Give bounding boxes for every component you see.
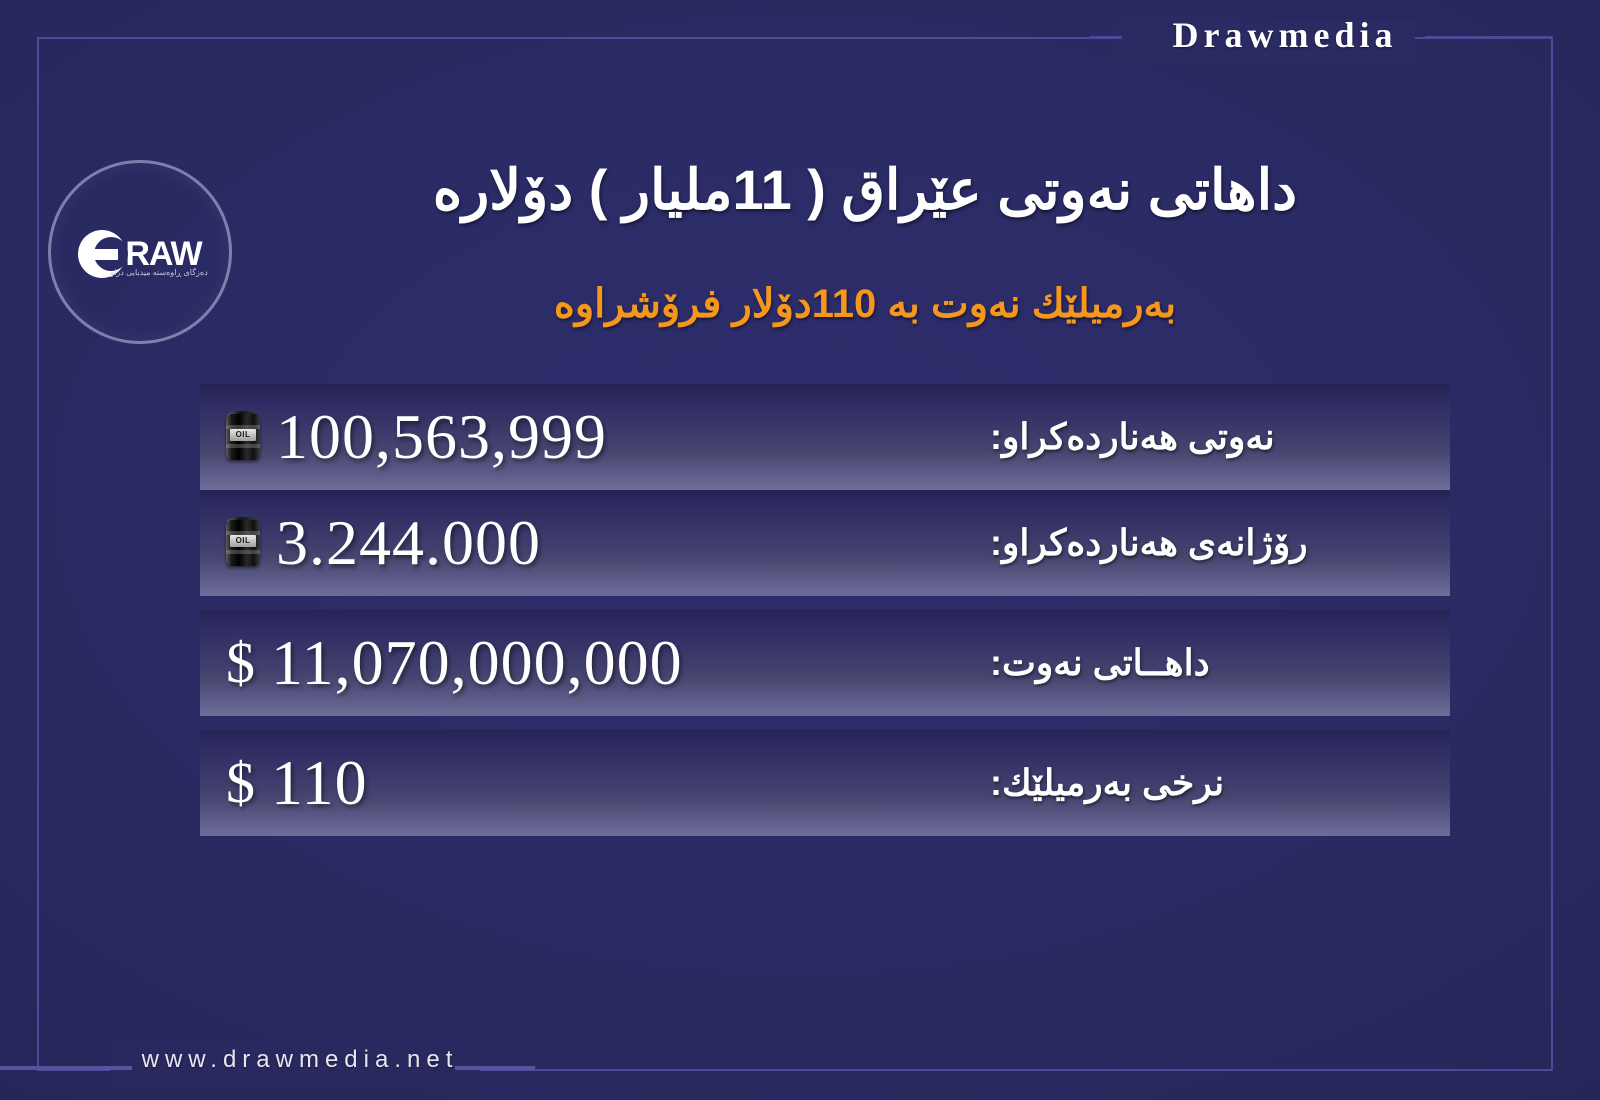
- rule-top-right: [1425, 36, 1553, 39]
- row-label-oil-revenue: داهــاتی نەوت:: [980, 642, 1450, 684]
- row-value-oil-revenue: 11,070,000,000: [271, 631, 683, 695]
- table-row: نرخی بەرمیلێك: $ 110: [200, 730, 1450, 836]
- barrel-label: OIL: [230, 535, 256, 547]
- row-label-barrel-price: نرخی بەرمیلێك:: [980, 762, 1450, 804]
- row-label-exported-oil: نەوتی هەناردەکراو:: [980, 416, 1450, 458]
- row-value-daily-export: 3.244.000: [276, 511, 541, 575]
- rule-top-left: [1090, 36, 1122, 39]
- draw-media-logo: RAW دەزگای ڕاوەستە میدیایی دراو: [48, 160, 232, 344]
- table-row: نەوتی هەناردەکراو: OIL 100,563,999: [200, 384, 1450, 490]
- dollar-icon: $: [226, 634, 255, 692]
- brand-header: Drawmedia: [1140, 14, 1430, 56]
- oil-barrel-icon: OIL: [226, 517, 260, 569]
- logo-lockup: RAW: [60, 218, 220, 290]
- footer-website-url: www.drawmedia.net: [130, 1046, 470, 1074]
- row-value-group: $ 110: [200, 751, 980, 815]
- dollar-icon: $: [226, 754, 255, 812]
- row-value-exported-oil: 100,563,999: [276, 405, 607, 469]
- row-value-group: OIL 100,563,999: [200, 405, 980, 469]
- table-row: داهــاتی نەوت: $ 11,070,000,000: [200, 610, 1450, 716]
- stats-table: نەوتی هەناردەکراو: OIL 100,563,999 رۆژان…: [200, 384, 1450, 836]
- row-value-group: OIL 3.244.000: [200, 511, 980, 575]
- row-value-barrel-price: 110: [271, 751, 368, 815]
- barrel-label: OIL: [230, 429, 256, 441]
- page-title: داهاتی نەوتی عێراق ( 11ملیار ) دۆلاره: [250, 155, 1480, 225]
- table-row: رۆژانەی هەناردەکراو: OIL 3.244.000: [200, 490, 1450, 596]
- row-value-group: $ 11,070,000,000: [200, 631, 980, 695]
- infographic-poster: Drawmedia RAW دەزگای ڕاوەستە میدیایی درا…: [0, 0, 1600, 1100]
- oil-barrel-icon: OIL: [226, 411, 260, 463]
- logo-subtext: دەزگای ڕاوەستە میدیایی دراو: [94, 268, 224, 277]
- row-label-daily-export: رۆژانەی هەناردەکراو:: [980, 522, 1450, 564]
- rule-bottom-left: [0, 1066, 132, 1070]
- page-subtitle: بەرمیلێك نەوت بە 110دۆلار فرۆشراوه: [250, 278, 1480, 330]
- logo-wordmark: RAW: [125, 237, 201, 271]
